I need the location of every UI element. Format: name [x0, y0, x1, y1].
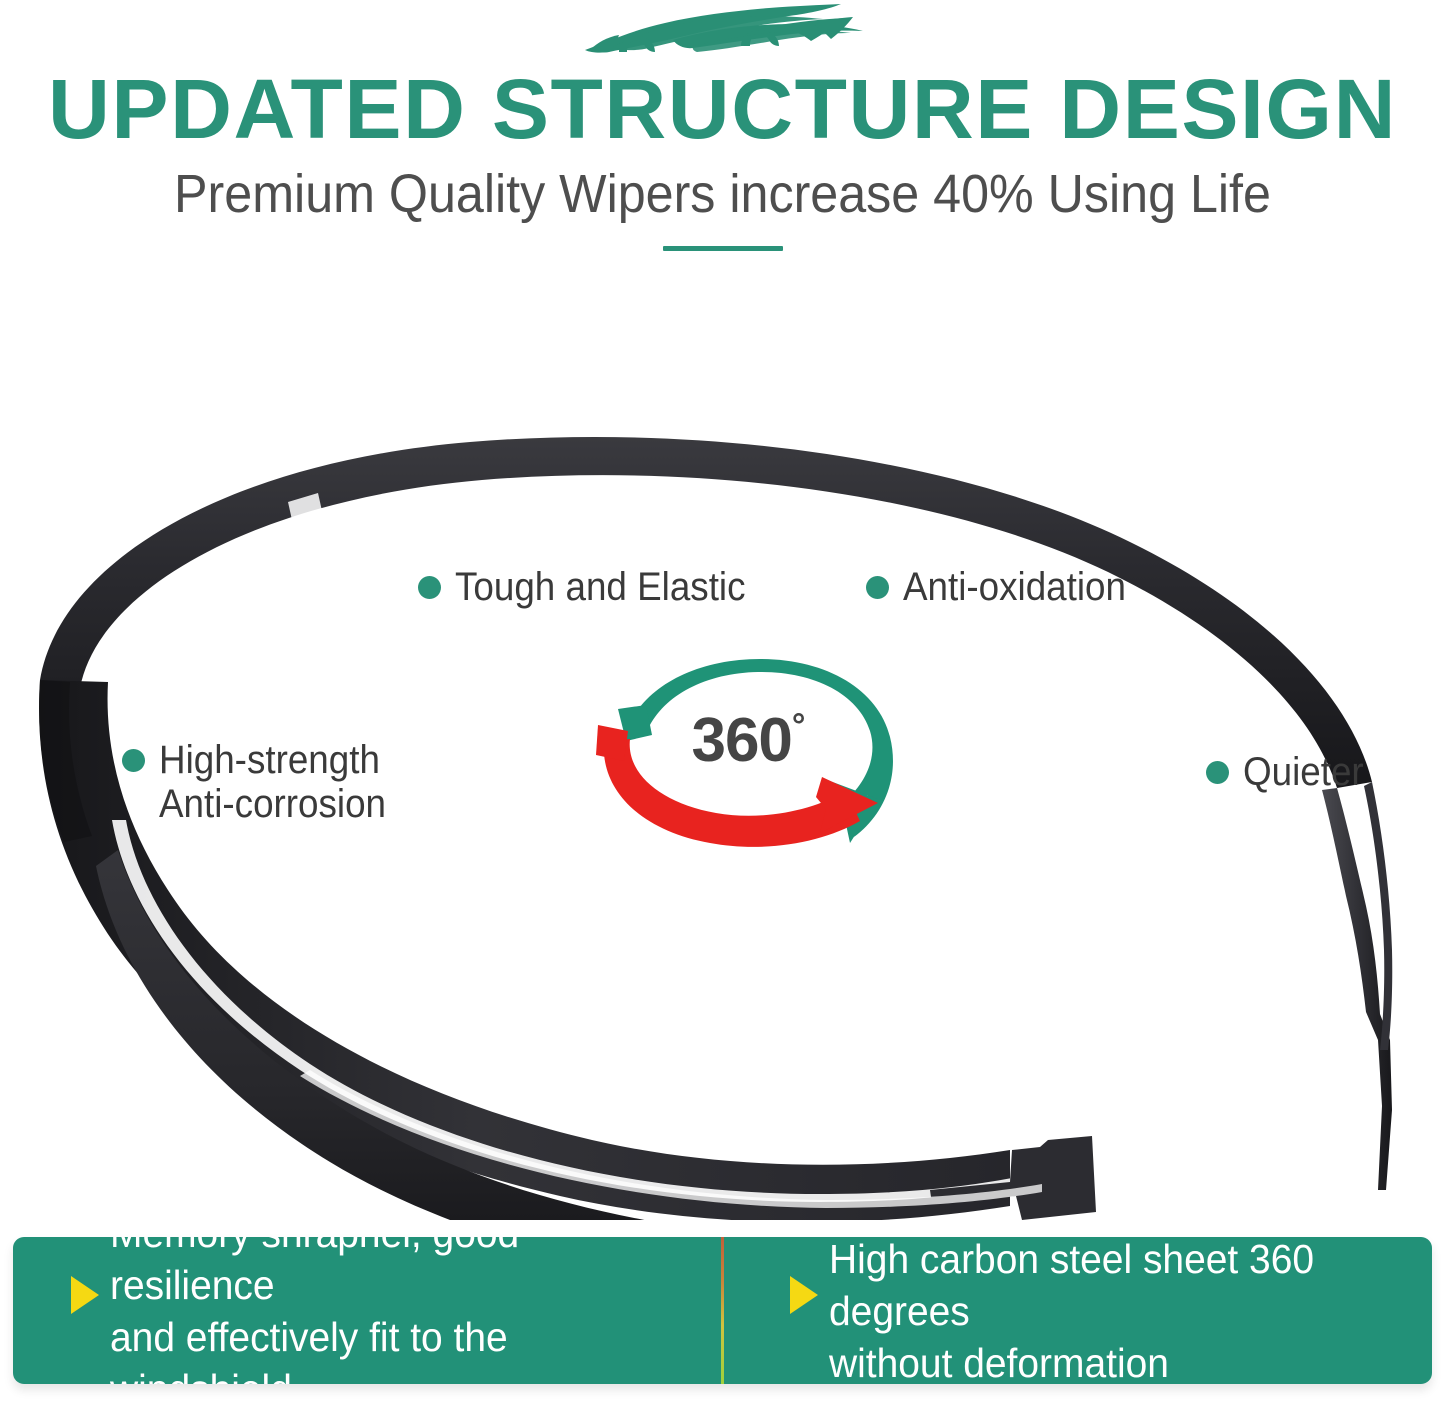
- feature-label-anti-oxidation: Anti-oxidation: [866, 565, 1145, 609]
- degree-symbol: °: [792, 707, 805, 745]
- yellow-triangle-bullet-icon: [790, 1276, 818, 1314]
- banner-high-carbon-steel: High carbon steel sheet 360 degrees with…: [714, 1237, 1433, 1384]
- 360-degree-badge: 360°: [578, 645, 918, 860]
- title-divider: [663, 246, 783, 251]
- feature-label-text: High-strength Anti-corrosion: [159, 738, 386, 826]
- feature-label-high-strength-anti-corrosion: High-strength Anti-corrosion: [122, 738, 406, 826]
- feature-label-quieter: Quieter: [1206, 750, 1374, 794]
- sports-car-silhouette-icon: [573, 2, 873, 64]
- bullet-dot-icon: [418, 576, 441, 599]
- feature-label-text: Quieter: [1243, 750, 1364, 794]
- page-title: UPDATED STRUCTURE DESIGN: [0, 66, 1445, 152]
- bullet-dot-icon: [866, 576, 889, 599]
- header: UPDATED STRUCTURE DESIGN Premium Quality…: [0, 0, 1445, 251]
- yellow-triangle-bullet-icon: [71, 1276, 99, 1314]
- banner-text: High carbon steel sheet 360 degrees with…: [829, 1237, 1402, 1384]
- banner-text: Memory shrapnel, good resilience and eff…: [110, 1237, 683, 1384]
- page-subtitle: Premium Quality Wipers increase 40% Usin…: [51, 164, 1395, 224]
- feature-banner-row: Memory shrapnel, good resilience and eff…: [13, 1237, 1432, 1384]
- feature-label-tough-and-elastic: Tough and Elastic: [418, 565, 771, 609]
- 360-badge-label: 360°: [578, 705, 918, 776]
- banner-memory-shrapnel: Memory shrapnel, good resilience and eff…: [13, 1237, 714, 1384]
- bullet-dot-icon: [122, 749, 145, 772]
- 360-value: 360: [691, 706, 791, 775]
- feature-label-text: Anti-oxidation: [903, 565, 1126, 609]
- product-illustration-area: Tough and Elastic Anti-oxidation High-st…: [0, 350, 1445, 1220]
- bullet-dot-icon: [1206, 761, 1229, 784]
- feature-label-text: Tough and Elastic: [455, 565, 746, 609]
